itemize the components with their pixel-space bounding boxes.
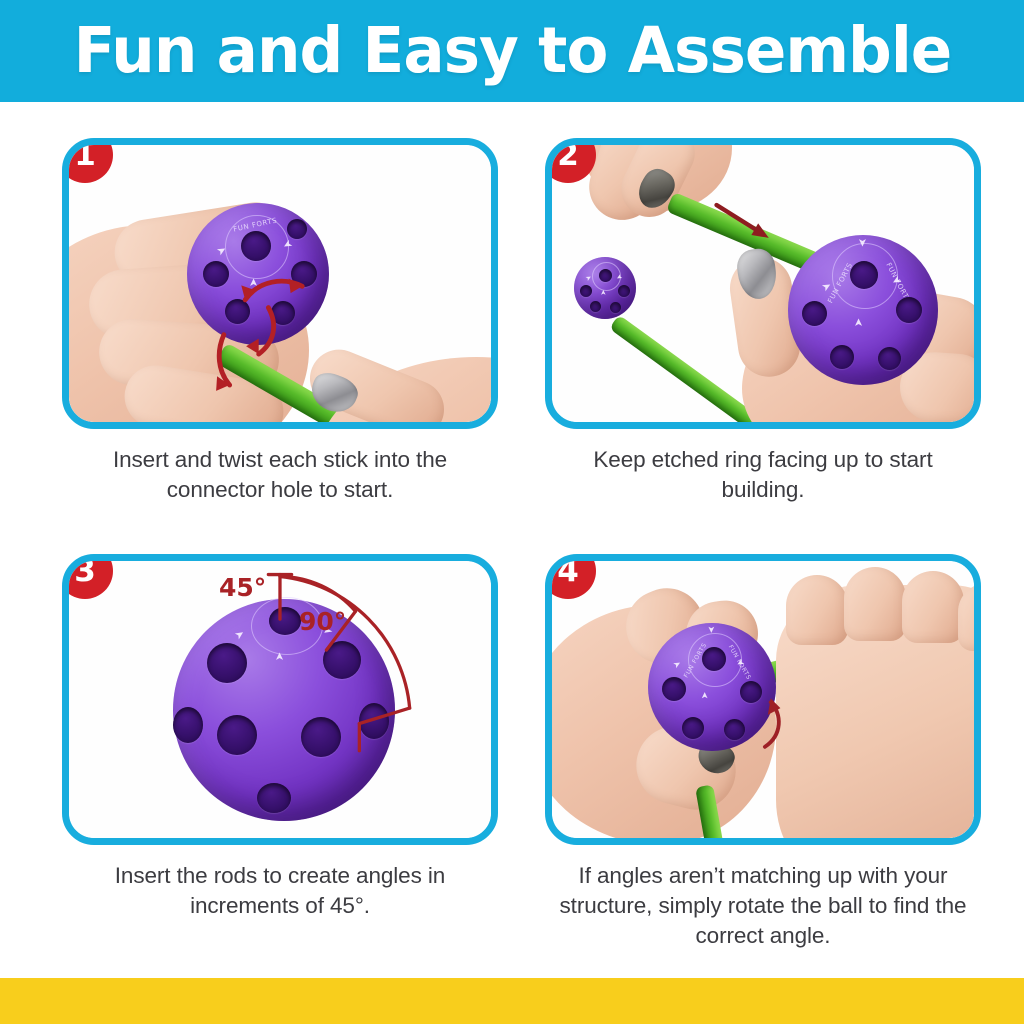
small-ball-hole bbox=[610, 302, 621, 313]
footer-bar bbox=[0, 978, 1024, 1024]
step-4-caption: If angles aren’t matching up with your s… bbox=[545, 861, 981, 951]
ball-hole bbox=[740, 681, 762, 703]
step-4-photo: FUN FORTS FUN FORTS ➤ ➤ ➤ ➤ bbox=[552, 561, 974, 838]
step-1-photo-card: FUN FORTS ➤ ➤ ➤ bbox=[62, 138, 498, 429]
ball-hole bbox=[217, 715, 257, 755]
step-3: ➤ ➤ ➤ bbox=[62, 554, 498, 921]
scene-etched-ring-up: ➤ ➤ ➤ bbox=[552, 145, 974, 422]
angle-label-45: 45° bbox=[219, 575, 266, 600]
ball-hole bbox=[878, 347, 901, 370]
small-ball-hole bbox=[618, 285, 630, 297]
page-title: Fun and Easy to Assemble bbox=[73, 19, 951, 82]
small-connector-ball: ➤ ➤ ➤ bbox=[574, 257, 636, 319]
ball-hole bbox=[207, 643, 247, 683]
angle-label-90: 90° bbox=[299, 609, 346, 634]
small-arrow-mark-icon: ➤ bbox=[600, 290, 607, 296]
step-4: FUN FORTS FUN FORTS ➤ ➤ ➤ ➤ bbox=[545, 554, 981, 951]
purple-connector-ball: FUN FORTS ➤ ➤ ➤ bbox=[187, 203, 329, 345]
ball-hole bbox=[896, 297, 922, 323]
ball-hole bbox=[291, 261, 317, 287]
purple-connector-ball: FUN FORTS FUN FORTS ➤ ➤ ➤ ➤ bbox=[648, 623, 776, 751]
step-2-photo-card: ➤ ➤ ➤ bbox=[545, 138, 981, 429]
step-1: FUN FORTS ➤ ➤ ➤ bbox=[62, 138, 498, 505]
purple-connector-ball: FUN FORTS FUN FORTS ➤ ➤ ➤ ➤ bbox=[788, 235, 938, 385]
arrow-mark-left-icon: ➤ bbox=[672, 660, 683, 672]
ball-hole bbox=[203, 261, 229, 287]
step-2-photo: ➤ ➤ ➤ bbox=[552, 145, 974, 422]
ball-hole bbox=[830, 345, 854, 369]
arrow-mark-top-icon: ➤ bbox=[705, 626, 714, 634]
ball-hole bbox=[301, 717, 341, 757]
step-2-caption: Keep etched ring facing up to start buil… bbox=[545, 445, 981, 505]
ball-hole bbox=[359, 703, 389, 739]
small-ball-hole bbox=[580, 285, 592, 297]
scene-angle-increments: ➤ ➤ ➤ bbox=[69, 561, 491, 838]
right-finger bbox=[902, 571, 964, 643]
ball-hole bbox=[257, 783, 291, 813]
step-3-caption: Insert the rods to create angles in incr… bbox=[62, 861, 498, 921]
scene-rotate-the-ball: FUN FORTS FUN FORTS ➤ ➤ ➤ ➤ bbox=[552, 561, 974, 838]
arrow-mark-bottom-icon: ➤ bbox=[248, 278, 259, 287]
steps-grid: FUN FORTS ➤ ➤ ➤ bbox=[0, 102, 1024, 978]
ball-hole bbox=[662, 677, 686, 701]
right-finger bbox=[844, 567, 906, 641]
step-1-caption: Insert and twist each stick into the con… bbox=[62, 445, 498, 505]
arrow-mark-top-icon: ➤ bbox=[857, 238, 868, 247]
ball-hole bbox=[682, 717, 704, 739]
step-3-photo-card: ➤ ➤ ➤ bbox=[62, 554, 498, 845]
ball-hole bbox=[802, 301, 827, 326]
step-3-photo: ➤ ➤ ➤ bbox=[69, 561, 491, 838]
arrow-mark-bottom-icon: ➤ bbox=[701, 692, 710, 700]
ball-hole bbox=[287, 219, 307, 239]
step-4-photo-card: FUN FORTS FUN FORTS ➤ ➤ ➤ ➤ bbox=[545, 554, 981, 845]
small-ball-hole bbox=[590, 301, 601, 312]
purple-connector-ball-large: ➤ ➤ ➤ bbox=[173, 599, 395, 821]
arrow-mark-bottom-icon: ➤ bbox=[274, 652, 285, 661]
step-2: ➤ ➤ ➤ bbox=[545, 138, 981, 505]
header-banner: Fun and Easy to Assemble bbox=[0, 0, 1024, 102]
ball-hole bbox=[724, 719, 745, 740]
arrow-mark-left-icon: ➤ bbox=[233, 627, 247, 641]
ball-hole bbox=[271, 301, 295, 325]
ball-hole bbox=[323, 641, 361, 679]
step-1-photo: FUN FORTS ➤ ➤ ➤ bbox=[69, 145, 491, 422]
ball-hole bbox=[225, 299, 250, 324]
arrow-mark-bottom-icon: ➤ bbox=[853, 318, 864, 327]
ball-hole bbox=[173, 707, 203, 743]
scene-insert-and-twist: FUN FORTS ➤ ➤ ➤ bbox=[69, 145, 491, 422]
right-finger bbox=[786, 575, 848, 645]
